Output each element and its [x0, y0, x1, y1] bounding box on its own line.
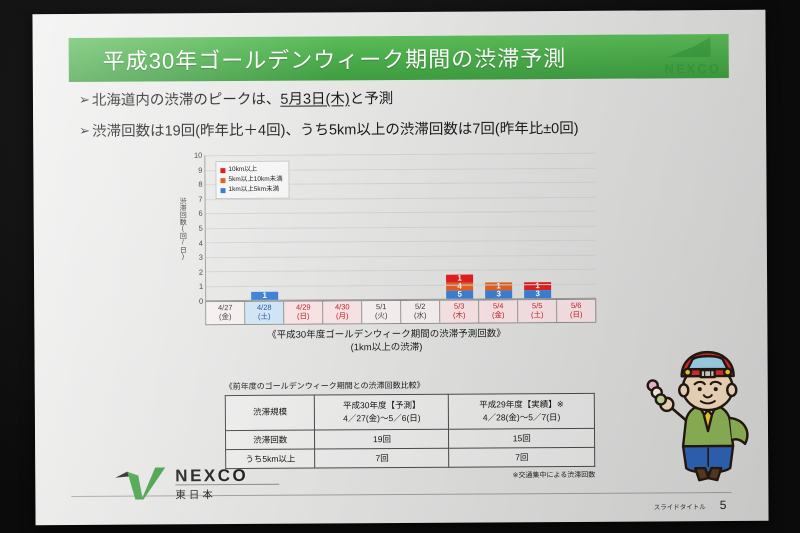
- table-header-line1: 渋滞規模: [228, 406, 313, 419]
- table-header-line2: 4／27(金)～5／6(日): [317, 411, 446, 425]
- x-axis-weekday: (金): [206, 312, 244, 322]
- y-tick-10: 10: [194, 151, 202, 160]
- y-tick-5: 5: [199, 224, 203, 233]
- page-number: 5: [720, 498, 727, 512]
- x-axis-date-row: 4/27(金)4/28(土)4/29(日)4/30(月)5/1(火)5/2(水)…: [205, 299, 596, 325]
- chart-caption: 《平成30年度ゴールデンウィーク期間の渋滞予測回数》 (1km以上の渋滞): [176, 328, 596, 356]
- plot-canvas: 10km以上5km以上10km未満1km以上5km未満 11451313: [204, 153, 596, 301]
- y-tick-1: 1: [199, 282, 203, 291]
- x-axis-cell: 5/1(火): [362, 301, 401, 323]
- table-header-line1: 平成29年度【実績】※: [451, 398, 592, 412]
- legend-item: 1km以上5km未満: [220, 185, 282, 195]
- y-tick-4: 4: [199, 238, 203, 247]
- bullet-list: ➢ 北海道内の渋滞のピークは、 5月3日(木) と予測 ➢ 渋滞回数は19回(昨…: [79, 88, 739, 154]
- legend-item: 5km以上10km未満: [220, 175, 282, 185]
- y-tick-2: 2: [199, 268, 203, 277]
- x-axis-cell: 5/4(金): [479, 300, 518, 322]
- y-axis-ticks: 012345678910: [188, 155, 205, 301]
- x-axis-weekday: (土): [518, 310, 556, 320]
- x-axis-weekday: (水): [401, 311, 439, 321]
- x-axis-weekday: (土): [245, 312, 283, 322]
- x-axis-cell: 5/5(土): [518, 300, 557, 322]
- y-tick-0: 0: [199, 297, 203, 306]
- chart-plot-region: 渋滞回数(回/日) 012345678910 10km以上5km以上10km未満…: [175, 153, 596, 302]
- x-axis-date: 5/2: [415, 302, 425, 311]
- x-axis-date: 5/4: [493, 301, 503, 310]
- x-axis-weekday: (木): [440, 311, 478, 321]
- header-logo-text: NEXCO: [665, 61, 721, 76]
- table-header-cell: 渋滞規模: [225, 395, 315, 430]
- footer-nexco-logo: NEXCO 東日本: [113, 465, 283, 502]
- header-nexco-logo: NEXCO: [629, 34, 725, 79]
- y-tick-7: 7: [198, 195, 202, 204]
- table-header-cell: 平成30年度【予測】4／27(金)～5／6(日): [315, 394, 449, 429]
- bar-segment: 5: [446, 291, 473, 299]
- chart-caption-subtitle: (1km以上の渋滞): [176, 340, 596, 355]
- footer-logo-text-group: NEXCO 東日本: [175, 466, 248, 502]
- x-axis-date: 4/30: [335, 302, 350, 311]
- bar-segment: 3: [524, 290, 551, 298]
- stacked-bar: 145: [446, 275, 473, 299]
- x-axis-date: 5/5: [532, 301, 542, 310]
- x-axis-weekday: (日): [557, 310, 595, 320]
- bar-segment: 3: [485, 290, 512, 298]
- y-tick-8: 8: [198, 180, 202, 189]
- legend-swatch-icon: [221, 188, 226, 193]
- x-axis-date: 5/6: [571, 301, 581, 310]
- table-cell: 15回: [449, 428, 595, 448]
- x-axis-date: 4/28: [257, 303, 272, 312]
- bullet-item-2: ➢ 渋滞回数は19回(昨年比＋4回)、うち5km以上の渋滞回数は7回(昨年比±0…: [79, 119, 739, 141]
- bullet-marker-icon: ➢: [79, 92, 90, 108]
- x-axis-date: 4/29: [296, 303, 311, 312]
- nexco-mascot-character: [632, 348, 768, 491]
- bullet-1-emphasis: 5月3日(木): [280, 90, 349, 109]
- bullet-item-1: ➢ 北海道内の渋滞のピークは、 5月3日(木) と予測: [79, 88, 739, 110]
- y-tick-3: 3: [199, 253, 203, 262]
- slide-title-bar: 平成30年ゴールデンウィーク期間の渋滞予測 NEXCO: [69, 34, 729, 82]
- x-axis-cell: 4/29(日): [284, 301, 323, 323]
- page-title: 平成30年ゴールデンウィーク期間の渋滞予測: [103, 41, 567, 76]
- footer-logo-jp: 東日本: [175, 487, 248, 502]
- chart-legend: 10km以上5km以上10km未満1km以上5km未満: [215, 161, 289, 200]
- x-axis-date: 5/3: [454, 302, 464, 311]
- x-axis-date: 4/27: [218, 303, 233, 312]
- slide-meta: スライドタイトル 5: [654, 498, 727, 512]
- x-axis-date: 5/1: [376, 302, 386, 311]
- y-tick-9: 9: [198, 165, 202, 174]
- traffic-forecast-chart: 渋滞回数(回/日) 012345678910 10km以上5km以上10km未満…: [175, 153, 596, 356]
- bullet-2-text: 渋滞回数は19回(昨年比＋4回)、うち5km以上の渋滞回数は7回(昨年比±0回): [92, 120, 579, 141]
- x-axis-weekday: (火): [362, 311, 400, 321]
- bullet-1-pre: 北海道内の渋滞のピークは、: [92, 91, 281, 110]
- legend-swatch-icon: [220, 168, 225, 173]
- table-header-line2: 4／28(金)～5／7(日): [451, 411, 592, 425]
- x-axis-weekday: (日): [284, 312, 322, 322]
- footer-logo-name: NEXCO: [175, 466, 248, 486]
- table-header-cell: 平成29年度【実績】※4／28(金)～5／7(日): [449, 393, 595, 428]
- x-axis-cell: 4/30(月): [323, 301, 362, 323]
- slide-title-label: スライドタイトル: [654, 501, 706, 511]
- table-cell: 19回: [315, 429, 449, 449]
- legend-swatch-icon: [220, 178, 225, 183]
- legend-label: 5km以上10km未満: [228, 175, 282, 185]
- x-axis-cell: 5/6(日): [557, 300, 596, 322]
- legend-label: 10km以上: [228, 165, 257, 175]
- table-row: 渋滞回数19回15回: [225, 428, 594, 449]
- bar-segment: 1: [251, 292, 278, 300]
- table-header-line1: 平成30年度【予測】: [317, 399, 446, 413]
- legend-label: 1km以上5km未満: [228, 185, 279, 195]
- x-axis-cell: 4/28(土): [245, 302, 284, 324]
- table-cell: 7回: [315, 448, 449, 468]
- slide-sheet: 平成30年ゴールデンウィーク期間の渋滞予測 NEXCO ➢ 北海道内の渋滞のピー…: [32, 10, 768, 525]
- nexco-check-icon: [113, 465, 171, 499]
- x-axis-cell: 5/3(木): [440, 301, 479, 323]
- table-cell: 渋滞回数: [225, 430, 315, 450]
- y-axis-label: 渋滞回数(回/日): [175, 155, 189, 301]
- comparison-table-caption: 《前年度のゴールデンウィーク期間との渋滞回数比較》: [225, 379, 595, 392]
- y-tick-6: 6: [198, 209, 202, 218]
- table-cell: 7回: [449, 447, 595, 467]
- table-header-row: 渋滞規模平成30年度【予測】4／27(金)～5／6(日)平成29年度【実績】※4…: [225, 393, 594, 430]
- nexco-wing-icon: [667, 37, 711, 57]
- x-axis-cell: 5/2(水): [401, 301, 440, 323]
- x-axis-weekday: (月): [323, 312, 361, 322]
- bullet-1-post: と予測: [350, 90, 394, 108]
- x-axis-cell: 4/27(金): [206, 302, 245, 324]
- bullet-marker-icon: ➢: [79, 123, 90, 139]
- legend-item: 10km以上: [220, 165, 282, 175]
- comparison-table: 渋滞規模平成30年度【予測】4／27(金)～5／6(日)平成29年度【実績】※4…: [225, 393, 595, 469]
- x-axis-weekday: (金): [479, 311, 517, 321]
- stacked-bar: 1: [251, 292, 278, 300]
